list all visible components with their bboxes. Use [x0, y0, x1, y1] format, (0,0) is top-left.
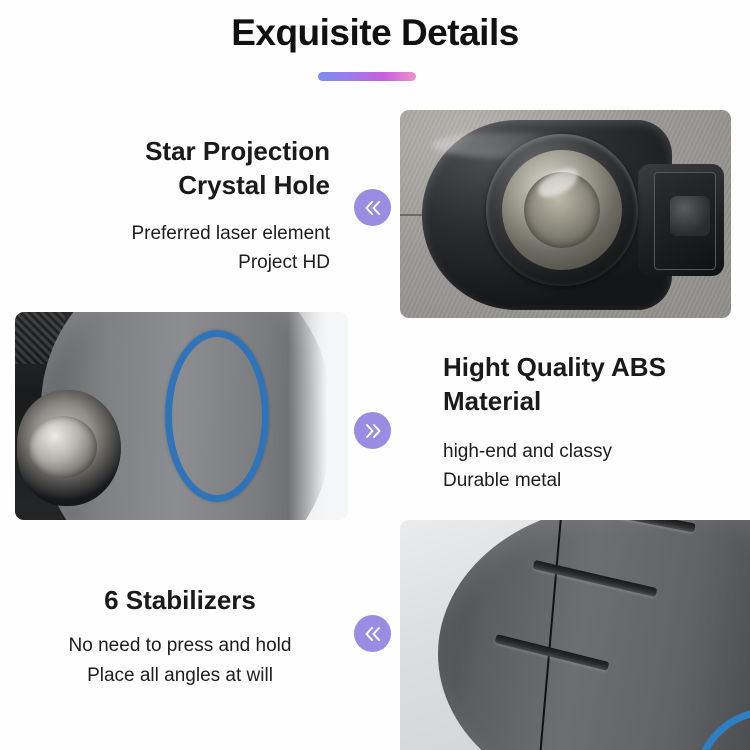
- body-line-2: Durable metal: [443, 466, 743, 495]
- heading-line-1-highlighted: 6 Stabilizers: [104, 583, 256, 617]
- heading-line-2: Material: [443, 386, 541, 416]
- heading-line-2: Crystal Hole: [178, 170, 330, 200]
- photo-blue-ring-body-closeup: [15, 312, 348, 520]
- body-line-2: Project HD: [40, 248, 330, 277]
- infographic-page: Exquisite Details Star Projection Crysta…: [0, 0, 750, 750]
- heading-line-2-highlighted: Crystal Hole: [178, 168, 330, 202]
- chevron-double-right-icon: [354, 412, 391, 449]
- body-line-1: No need to press and hold: [30, 631, 330, 660]
- title-gradient-underline: [318, 72, 416, 81]
- lens-glass: [502, 150, 622, 270]
- feature-heading-star-projection: Star Projection Crystal Hole: [40, 134, 330, 203]
- feature-body-abs-material: high-end and classy Durable metal: [443, 437, 743, 496]
- blue-accent-arc: [694, 708, 750, 750]
- chevron-double-left-icon: [354, 615, 391, 652]
- feature-text-star-projection: Star Projection Crystal Hole Preferred l…: [40, 134, 330, 278]
- page-title: Exquisite Details: [0, 12, 750, 54]
- vent-slot: [574, 520, 695, 533]
- chevron-double-left-icon: [354, 189, 391, 226]
- vent-slot: [495, 634, 610, 671]
- heading-line-1: 6 Stabilizers: [104, 585, 256, 615]
- feature-body-stabilizers: No need to press and hold Place all angl…: [30, 631, 330, 690]
- background-fade: [288, 312, 348, 520]
- heading-line-2-highlighted: Material: [443, 384, 541, 418]
- feature-text-abs-material: Hight Quality ABS Material high-end and …: [443, 350, 743, 496]
- body-seam-line: [539, 520, 564, 750]
- vent-slot: [533, 560, 658, 597]
- heading-line-1: Hight Quality ABS: [443, 350, 743, 384]
- feature-heading-abs-material: Hight Quality ABS Material: [443, 350, 743, 419]
- photo-projector-lens-closeup: [400, 110, 731, 318]
- heading-line-1: Star Projection: [40, 134, 330, 168]
- sensor-element: [670, 196, 710, 236]
- lens-pod: [17, 390, 121, 506]
- feature-text-stabilizers: 6 Stabilizers No need to press and hold …: [30, 583, 330, 690]
- feature-body-star-projection: Preferred laser element Project HD: [40, 219, 330, 278]
- body-line-2: Place all angles at will: [30, 661, 330, 690]
- blue-accent-ring: [165, 330, 269, 502]
- body-line-1: Preferred laser element: [40, 219, 330, 248]
- feature-heading-stabilizers: 6 Stabilizers: [30, 583, 330, 617]
- lens-outer-ring: [486, 134, 638, 286]
- photo-vent-slots-closeup: [400, 520, 750, 750]
- cylindrical-body: [438, 520, 750, 750]
- body-line-1: high-end and classy: [443, 437, 743, 466]
